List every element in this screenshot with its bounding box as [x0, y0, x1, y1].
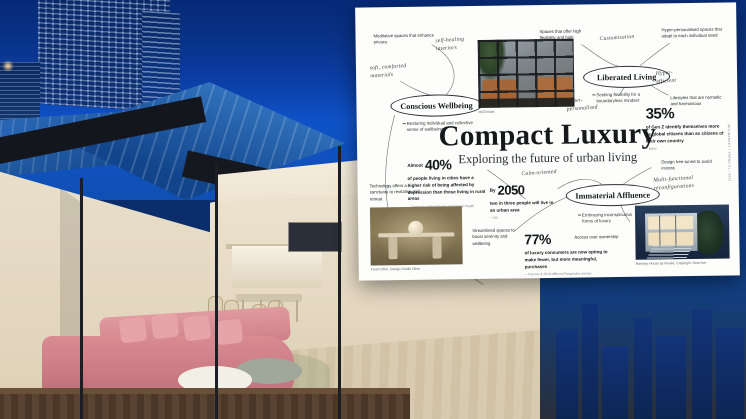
note-design-avoid-excess: Design free-tuned to avoid excess: [661, 159, 717, 173]
sofa-pillow: [215, 319, 244, 346]
tree-foliage: [693, 211, 724, 255]
handwritten-calm: Calm-oriented: [521, 168, 557, 179]
stat-2050-value: 2050: [497, 182, 524, 197]
compact-luxury-poster: Compact Luxury Exploring the future of u…: [355, 2, 740, 280]
stat-2050-source: – UN: [490, 215, 554, 220]
caption-interior-window: mOOn.bar: [479, 110, 495, 114]
stat-77-percent: 77% of luxury consumers are now opting t…: [524, 230, 609, 276]
stat-35-value: 35%: [646, 105, 675, 122]
house-upper-floor-light: [648, 216, 693, 230]
theme-bubble-conscious-wellbeing[interactable]: Conscious Wellbeing: [390, 94, 482, 117]
poster-photo-house-dusk: [635, 204, 730, 259]
sofa-pillow: [119, 317, 148, 344]
table-leg-right: [432, 236, 441, 258]
note-meditative: Meditative spaces that enhance privacy: [373, 33, 435, 47]
stat-2050-body: two in three people will live in an urba…: [490, 200, 554, 214]
window-mullion: [338, 146, 341, 419]
stat-77-value: 77%: [524, 231, 551, 247]
poster-content: Compact Luxury Exploring the future of u…: [359, 6, 736, 276]
theme-sublabel-liberated-living: Seeking flexibility for a boundaryless m…: [596, 91, 662, 105]
stat-40-prefix: Almost: [407, 163, 423, 168]
sphere-lamp: [408, 221, 423, 236]
stat-40-percent: Almost40% of people living in cities hav…: [407, 156, 486, 209]
theme-sublabel-conscious-wellbeing: Restoring individual and collective sens…: [407, 120, 479, 134]
kitchen-island: [232, 246, 322, 288]
poster-photo-interior-window: [478, 39, 575, 108]
stat-77-body: of luxury consumers are now opting to ma…: [525, 249, 609, 270]
note-streamlined: Streamlined spaces to boost serenity and…: [472, 227, 524, 247]
light-flare: [2, 60, 14, 72]
poster-side-credit: MIX MARKET / TREND 01 / 2021: [727, 124, 732, 181]
wooden-deck: [0, 394, 410, 419]
sofa-pillow: [183, 315, 212, 342]
screenshot-stage: Compact Luxury Exploring the future of u…: [0, 0, 746, 419]
handwritten-multi-functional: Multi-functional reconfigurations: [653, 174, 694, 193]
table-leg-left: [388, 237, 397, 259]
window-mullion: [80, 178, 83, 419]
window-grid: [478, 39, 575, 108]
handwritten-hyper-efficient: Hyper- efficient: [656, 69, 677, 87]
stat-77-source: – YouGov & 2019 Affluent Perspective sur…: [525, 271, 609, 276]
stat-2050-prefix: By: [490, 188, 496, 193]
handwritten-soft-comfort: soft, comforted materials: [369, 62, 407, 81]
handwritten-self-healing: self-healing interiors: [435, 35, 465, 54]
house-exterior-stairs: [646, 245, 693, 260]
house-lower-floor-light: [648, 232, 693, 246]
window-mullion: [215, 162, 218, 419]
theme-bubble-immaterial-affluence[interactable]: Immaterial Affluence: [566, 183, 660, 206]
stat-35-body: of Gen Z identify themselves more as glo…: [646, 124, 724, 145]
stat-35-percent: 35% of Gen Z identify themselves more as…: [646, 105, 725, 151]
handwritten-customisation: Customisation: [599, 33, 634, 44]
stat-2050: By2050 two in three people will live in …: [490, 181, 555, 220]
sofa-pillow: [151, 313, 180, 340]
background-right-buildings: [556, 282, 746, 419]
poster-photo-table-lamp: [370, 206, 463, 265]
caption-house-dusk: Ramsey House by Renée, Copyright: Dest A…: [636, 261, 706, 266]
stat-40-value: 40%: [425, 156, 452, 172]
stat-40-body: of people living in cities have a higher…: [407, 175, 485, 203]
note-hyper-personalised: Hyper-personalised spaces that adapt to …: [661, 27, 723, 41]
interior-window: [288, 222, 342, 252]
caption-table-lamp: Fresh Olive, Design Studio Olive: [371, 267, 420, 272]
